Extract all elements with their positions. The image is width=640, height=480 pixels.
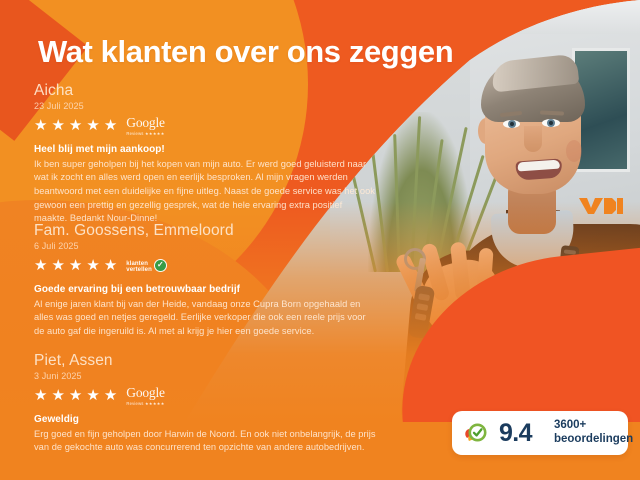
star-icon: ★: [69, 258, 82, 273]
star-icon: ★: [51, 258, 64, 273]
klantenvertellen-line-2: vertellen: [126, 267, 152, 273]
page-title: Wat klanten over ons zeggen: [38, 36, 453, 69]
review-date: 6 Juli 2025: [34, 241, 382, 251]
star-icon: ★: [34, 258, 47, 273]
poster-stage: Wat klanten over ons zeggen Aicha 23 Jul…: [0, 0, 640, 480]
star-icon: ★: [86, 258, 99, 273]
google-reviews-logo: Google Reviews ★★★★★: [126, 386, 165, 406]
review-date: 23 Juli 2025: [34, 101, 382, 111]
review-rating-row: ★ ★ ★ ★ ★ Google Reviews ★★★★★: [34, 116, 382, 136]
star-icon: ★: [51, 388, 64, 403]
star-icon: ★: [51, 118, 64, 133]
star-icon: ★: [86, 388, 99, 403]
review-card: Aicha 23 Juli 2025 ★ ★ ★ ★ ★ Google Revi…: [34, 82, 382, 226]
star-icon: ★: [69, 388, 82, 403]
star-icon: ★: [34, 118, 47, 133]
klantenvertellen-seal-icon: [464, 421, 489, 446]
review-date: 3 Juni 2025: [34, 371, 382, 381]
check-badge-icon: ✓: [154, 259, 167, 272]
rating-text-group: 3600+ beoordelingen: [554, 419, 633, 446]
review-body: Ik ben super geholpen bij het kopen van …: [34, 158, 376, 226]
star-rating: ★ ★ ★ ★ ★: [34, 388, 117, 403]
google-reviews-sublabel: Reviews ★★★★★: [126, 131, 164, 136]
star-icon: ★: [34, 388, 47, 403]
google-reviews-sublabel: Reviews ★★★★★: [126, 401, 164, 406]
star-icon: ★: [104, 118, 117, 133]
rating-count: 3600+: [554, 419, 633, 433]
review-title: Heel blij met mijn aankoop!: [34, 144, 382, 155]
checkmark-icon: ✓: [157, 261, 164, 269]
review-card: Piet, Assen 3 Juni 2025 ★ ★ ★ ★ ★ Google…: [34, 352, 382, 455]
review-title: Geweldig: [34, 414, 382, 425]
klantenvertellen-wordmark: klanten vertellen: [126, 259, 152, 274]
rating-score: 9.4: [499, 421, 532, 446]
poster-content: Wat klanten over ons zeggen Aicha 23 Jul…: [0, 0, 640, 480]
review-body: Al enige jaren klant bij van der Heide, …: [34, 298, 376, 339]
klantenvertellen-logo: klanten vertellen ✓: [126, 259, 167, 274]
review-title: Goede ervaring bij een betrouwbaar bedri…: [34, 284, 382, 295]
google-wordmark: Google: [126, 386, 165, 400]
review-rating-row: ★ ★ ★ ★ ★ klanten vertellen ✓: [34, 256, 382, 276]
rating-badge[interactable]: 9.4 3600+ beoordelingen: [452, 411, 628, 455]
google-wordmark: Google: [126, 116, 165, 130]
star-rating: ★ ★ ★ ★ ★: [34, 118, 117, 133]
review-author: Fam. Goossens, Emmeloord: [34, 222, 382, 240]
star-icon: ★: [104, 258, 117, 273]
review-author: Aicha: [34, 82, 382, 100]
rating-label: beoordelingen: [554, 433, 633, 447]
star-rating: ★ ★ ★ ★ ★: [34, 258, 117, 273]
star-icon: ★: [86, 118, 99, 133]
review-rating-row: ★ ★ ★ ★ ★ Google Reviews ★★★★★: [34, 386, 382, 406]
star-icon: ★: [104, 388, 117, 403]
review-author: Piet, Assen: [34, 352, 382, 370]
star-icon: ★: [69, 118, 82, 133]
review-body: Erg goed en fijn geholpen door Harwin de…: [34, 428, 376, 455]
google-reviews-logo: Google Reviews ★★★★★: [126, 116, 165, 136]
review-card: Fam. Goossens, Emmeloord 6 Juli 2025 ★ ★…: [34, 222, 382, 339]
